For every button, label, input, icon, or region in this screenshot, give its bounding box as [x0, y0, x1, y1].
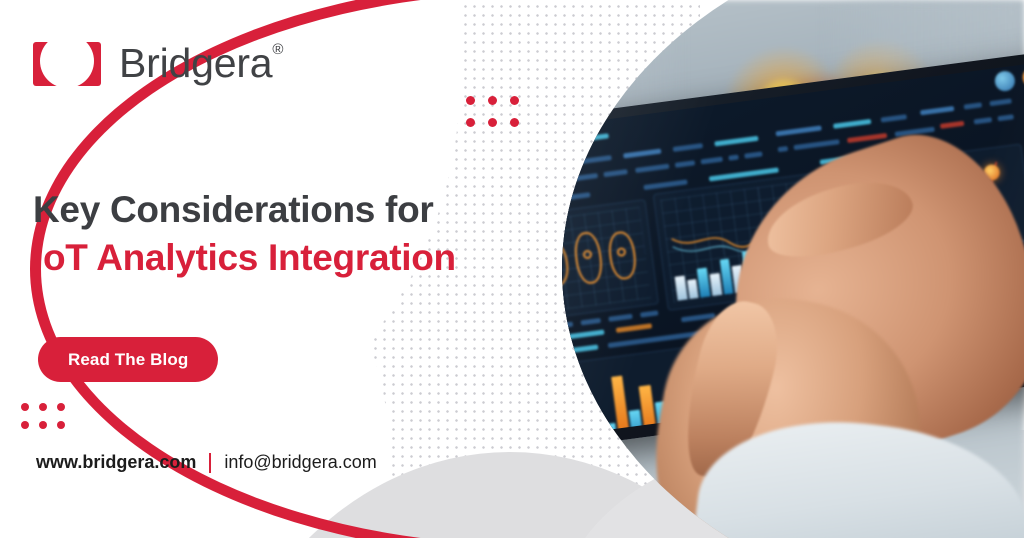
kpi-bar-alert	[940, 121, 964, 129]
content-column: Bridgera® Key Considerations for IoT Ana…	[0, 0, 560, 538]
bar	[604, 423, 618, 436]
red-dot-grid-top	[466, 96, 519, 127]
bar	[561, 410, 577, 435]
nav-item-bar	[920, 106, 954, 115]
axis-label-bar	[608, 314, 632, 322]
nav-item-bar	[989, 98, 1011, 106]
panel-label-bar	[616, 323, 652, 333]
registered-trademark-icon: ®	[272, 41, 283, 58]
dot	[21, 403, 29, 411]
kpi-bar	[728, 154, 739, 160]
contact-footer: www.bridgera.com info@bridgera.com	[36, 452, 377, 473]
section-label-bar	[643, 179, 687, 190]
headline-line-2: IoT Analytics Integration	[33, 236, 533, 280]
dot	[21, 421, 29, 429]
kpi-bar	[974, 117, 992, 124]
dot	[466, 96, 475, 105]
bar	[578, 432, 591, 436]
nav-item-bar	[623, 149, 661, 159]
brand-logo[interactable]: Bridgera®	[33, 40, 283, 87]
headline-line-1: Key Considerations for	[33, 188, 533, 232]
dot	[57, 421, 65, 429]
kpi-bar	[744, 151, 762, 158]
panel-label-bar	[554, 344, 598, 355]
red-dot-grid-bottom	[21, 403, 65, 429]
dot	[39, 421, 47, 429]
dot	[466, 118, 475, 127]
nav-item-bar	[570, 155, 612, 165]
dot	[510, 96, 519, 105]
kpi-bar	[778, 146, 789, 152]
promotional-banner: Bridgera® Key Considerations for IoT Ana…	[0, 0, 1024, 538]
photo-clip-region	[514, 0, 1024, 538]
panel-label-bar	[552, 330, 604, 342]
topbar-text-bar	[583, 133, 609, 141]
bar	[639, 385, 657, 436]
kpi-bar	[675, 160, 695, 168]
website-link[interactable]: www.bridgera.com	[36, 452, 196, 473]
dot	[488, 96, 497, 105]
nav-item-bar	[776, 125, 822, 136]
nav-item-bar	[673, 143, 703, 152]
axis-label-bar	[640, 310, 658, 317]
footer-divider	[209, 453, 211, 473]
bridgera-arch-logo-icon	[33, 42, 101, 86]
axis-label-bar	[581, 318, 601, 326]
kpi-bar	[793, 139, 839, 150]
bar	[589, 418, 604, 436]
hero-photo	[514, 0, 1024, 538]
dot	[39, 403, 47, 411]
dot	[510, 118, 519, 127]
dot	[57, 403, 65, 411]
headline-block: Key Considerations for IoT Analytics Int…	[33, 188, 533, 280]
nav-item-bar	[881, 114, 907, 122]
brand-name: Bridgera	[119, 40, 272, 86]
nav-item-bar	[714, 136, 758, 147]
nav-item-bar	[833, 119, 871, 129]
nav-item-bar	[964, 102, 982, 109]
kpi-bar	[997, 114, 1014, 121]
dot	[488, 118, 497, 127]
brand-wordmark: Bridgera®	[119, 40, 283, 87]
kpi-bar-alert	[847, 133, 887, 143]
kpi-bar	[701, 157, 723, 165]
read-the-blog-button[interactable]: Read The Blog	[38, 337, 218, 382]
kpi-bar	[603, 169, 627, 177]
kpi-bar	[635, 164, 669, 173]
kpi-bar	[572, 173, 598, 181]
email-link[interactable]: info@bridgera.com	[224, 452, 376, 473]
